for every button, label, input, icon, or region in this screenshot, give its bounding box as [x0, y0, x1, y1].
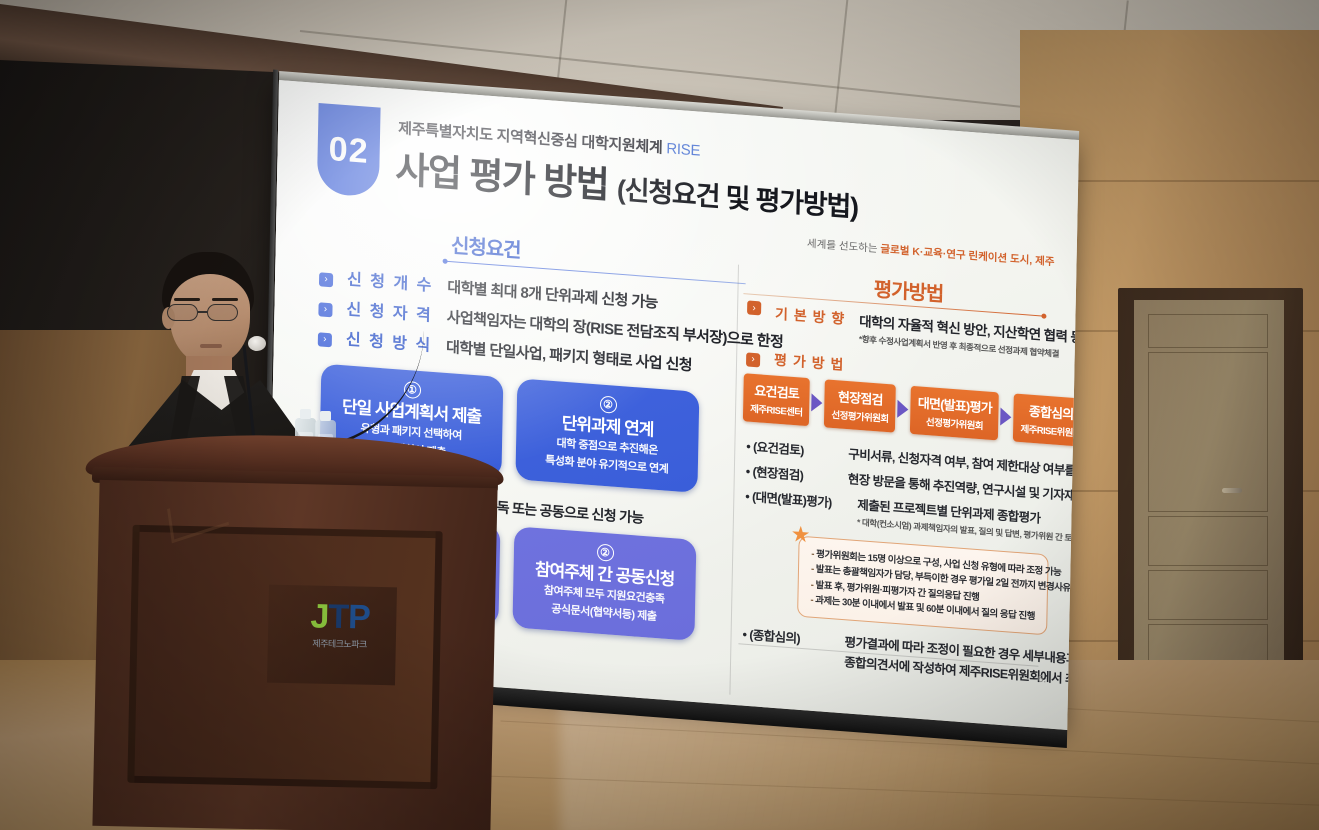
flow-step-sub: 선정평가위원회 — [917, 413, 991, 433]
jtp-letter-t: T — [328, 598, 349, 636]
right-column-heading: 평가방법 — [873, 273, 943, 307]
slide-page-number: 6. — [1038, 674, 1047, 686]
detail-key: • (현장점검) — [746, 461, 838, 487]
conference-room-photo: 2025 02 제주특별자치도 지역혁신중심 대학지원체계 RISE 사업 평가… — [0, 0, 1319, 830]
presenter-mouth — [200, 344, 222, 348]
flow-step: 요건검토 제주RISE센터 — [743, 373, 810, 426]
presenter-eyebrow — [212, 298, 238, 301]
right-bullet-label: 기 본 방 향 — [775, 304, 846, 329]
detail-row: • (종합심의) 평가결과에 따라 조정이 필요한 경우 세부내용과 명확한 근… — [742, 624, 1079, 693]
flow-step-sub: 선정평가위원회 — [831, 407, 888, 425]
wall-banner: 2025 — [0, 120, 300, 270]
flow-step-title: 종합심의 — [1021, 400, 1079, 424]
flow-step: 종합심의 제주RISE위원회 — [1013, 394, 1079, 448]
left-step-box: ② 단위과제 연계 대학 중점으로 추진해온 특성화 분야 유기적으로 연계 — [515, 378, 699, 493]
eyeglasses-icon — [167, 304, 255, 322]
flow-step-title: 현장점검 — [832, 386, 889, 409]
jtp-logo: JTP 제주테크노파크 — [289, 599, 390, 651]
door-panel — [1148, 570, 1268, 620]
left-step-box: ② 참여주체 간 공동신청 참여주체 모두 지원요건충족 공식문서(협약서등) … — [512, 526, 696, 641]
star-icon: ★ — [789, 523, 811, 547]
flow-step: 대면(발표)평가 선정평가위원회 — [910, 386, 999, 441]
tagline-prefix: 세계를 선도하는 — [807, 238, 881, 256]
kicker-rise: RISE — [666, 140, 700, 160]
door-handle[interactable] — [1222, 488, 1242, 493]
chevron-right-icon: › — [746, 352, 760, 367]
jtp-subtitle: 제주테크노파크 — [289, 636, 389, 651]
jtp-letter-j: J — [310, 597, 329, 635]
door-panel — [1148, 352, 1268, 512]
tagline-accent: 글로벌 K·교육·연구 린케이션 도시, 제주 — [880, 243, 1054, 268]
meeting-room-door[interactable] — [1134, 300, 1284, 690]
microphone-icon — [248, 336, 266, 351]
presenter-eyebrow — [174, 298, 200, 301]
flow-step-title: 요건검토 — [750, 380, 803, 403]
right-bullet-row: › 평 가 방 법 — [746, 347, 845, 374]
door-panel — [1148, 314, 1268, 348]
flow-step-sub: 제주RISE위원회 — [1020, 421, 1079, 440]
left-column-heading: 신청요건 — [451, 229, 521, 263]
jtp-wordmark: JTP — [290, 599, 391, 635]
slide-title-sub: (신청요건 및 평가방법) — [617, 174, 859, 222]
step-number: ② — [599, 395, 616, 413]
step-number: ② — [596, 543, 613, 561]
chevron-right-icon: › — [747, 300, 761, 315]
arrow-right-icon — [812, 393, 823, 412]
eyeglass-bridge — [198, 311, 207, 313]
arrow-right-icon — [1001, 408, 1012, 427]
slide-tagline: 세계를 선도하는 글로벌 K·교육·연구 린케이션 도시, 제주 — [807, 236, 1055, 270]
detail-key: • (요건검토) — [746, 436, 838, 462]
jtp-letter-p: P — [348, 598, 370, 636]
evaluation-committee-note: ★ 평가위원회는 15명 이상으로 구성, 사업 신청 유형에 따라 조정 가능… — [797, 536, 1049, 635]
door-panel — [1148, 516, 1268, 566]
slide-title-main: 사업 평가 방법 — [395, 149, 617, 207]
section-number-badge: 02 — [317, 103, 381, 198]
eyeglass-lens — [167, 304, 198, 321]
arrow-right-icon — [898, 400, 909, 419]
evaluation-flow: 요건검토 제주RISE센터 현장점검 선정평가위원회 대면(발표)평가 선정평가… — [743, 373, 1079, 447]
flow-step: 현장점검 선정평가위원회 — [824, 379, 896, 432]
eyeglass-lens — [207, 304, 238, 321]
right-bullet-label: 평 가 방 법 — [774, 350, 845, 375]
flow-step-sub: 제주RISE센터 — [750, 401, 803, 419]
